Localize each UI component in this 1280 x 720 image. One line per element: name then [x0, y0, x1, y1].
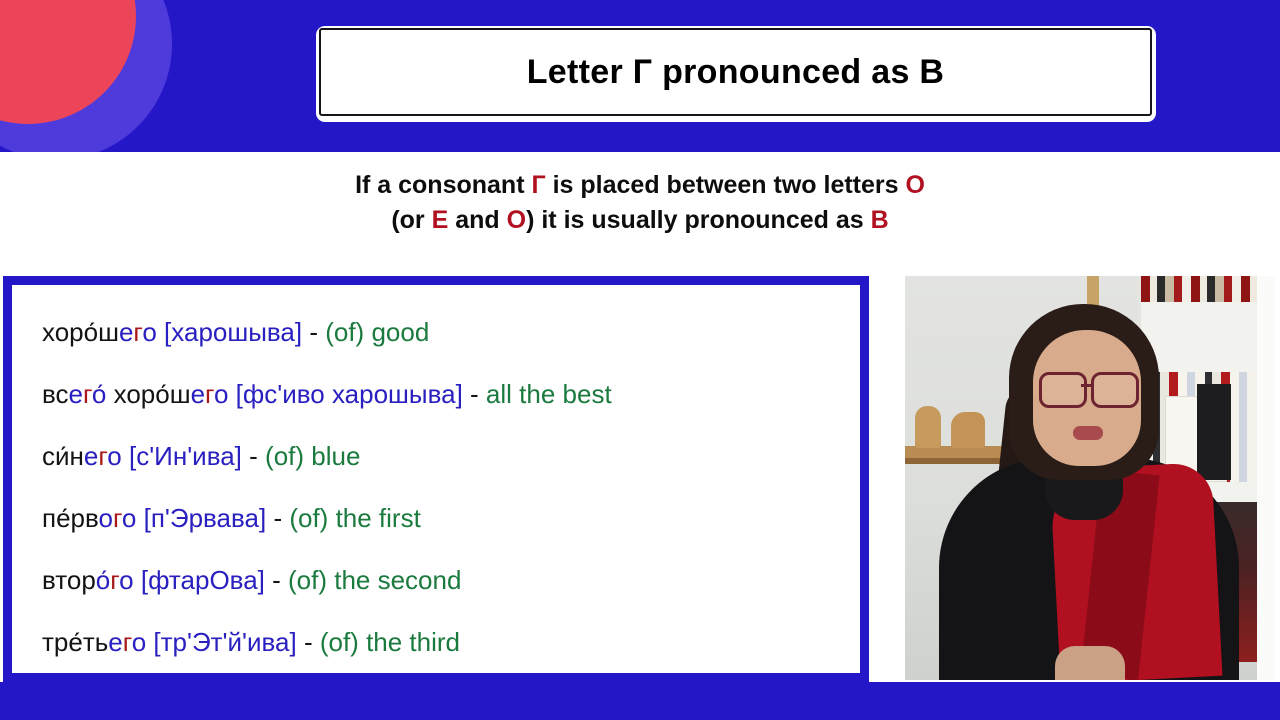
video-wooden-bear-figure-left	[915, 406, 941, 448]
rule-description: If a consonant Г is placed between two l…	[0, 168, 1280, 238]
word-letter-ge: г	[83, 379, 92, 409]
video-presenter-glasses-right-lens	[1091, 372, 1139, 408]
rule-description-line-2: (or Е and О) it is usually pronounced as…	[0, 203, 1280, 238]
video-wooden-shelf-edge	[905, 458, 1009, 464]
word-transcription: [с'Ин'ива]	[129, 441, 242, 471]
example-row: хоро́шего [харошыва] - (of) good	[42, 301, 860, 363]
title-plate: Letter Г pronounced as В	[316, 26, 1156, 122]
word-stem-2: хоро́ш	[106, 379, 190, 409]
word-letter-blue: о	[107, 441, 121, 471]
word-letter-blue-3: о	[214, 379, 228, 409]
word-letter-blue: о	[122, 503, 136, 533]
rule-text-segment: (or	[391, 206, 431, 234]
presenter-video[interactable]	[905, 276, 1275, 680]
word-translation: (of) the third	[320, 627, 460, 657]
word-letter-blue: е	[84, 441, 98, 471]
word-translation: (of) the second	[288, 565, 461, 595]
video-presenter-mouth	[1073, 426, 1103, 440]
word-letter-blue-2: е	[191, 379, 205, 409]
word-dash: -	[265, 565, 288, 595]
video-presenter-glasses-bridge	[1081, 384, 1091, 387]
word-stem: втор	[42, 565, 96, 595]
bottom-decorative-band	[0, 682, 1280, 720]
highlight-letter-o2: О	[507, 206, 526, 234]
examples-list: хоро́шего [харошыва] - (of) good всего́ …	[12, 285, 860, 673]
word-stem: пе́рв	[42, 503, 99, 533]
video-right-edge	[1257, 276, 1275, 680]
title-plate-inner-border: Letter Г pronounced as В	[319, 28, 1152, 116]
word-translation: (of) blue	[265, 441, 360, 471]
word-translation: (of) good	[325, 317, 429, 347]
word-transcription: [фтарОва]	[141, 565, 265, 595]
example-row: си́него [с'Ин'ива] - (of) blue	[42, 425, 860, 487]
word-letter-ge-2: г	[205, 379, 214, 409]
word-letter-blue: е	[108, 627, 122, 657]
video-wooden-bear-figure-right	[951, 412, 985, 448]
video-presenter-hands	[1055, 646, 1125, 680]
rule-text-segment: If a consonant	[355, 171, 531, 199]
highlight-letter-ve: В	[871, 206, 889, 234]
word-stem: си́н	[42, 441, 84, 471]
word-stem: вс	[42, 379, 69, 409]
word-transcription: [фс'иво харошыва]	[236, 379, 463, 409]
word-letter-ge: г	[123, 627, 132, 657]
word-stem: хоро́ш	[42, 317, 119, 347]
video-books-top-row	[1141, 276, 1275, 302]
rule-description-line-1: If a consonant Г is placed between two l…	[0, 168, 1280, 203]
highlight-letter-ge: Г	[531, 171, 545, 199]
word-dash: -	[302, 317, 325, 347]
word-dash: -	[242, 441, 265, 471]
word-dash: -	[297, 627, 320, 657]
video-presenter-glasses-left-lens	[1039, 372, 1087, 408]
word-letter-blue: о	[99, 503, 113, 533]
word-translation: all the best	[486, 379, 612, 409]
word-letter-blue: о	[142, 317, 156, 347]
rule-text-segment: is placed between two letters	[546, 171, 906, 199]
word-letter-blue: о́	[92, 379, 106, 409]
word-letter-ge: г	[133, 317, 142, 347]
video-book-dark	[1197, 384, 1231, 480]
word-transcription: [тр'Эт'й'ива]	[153, 627, 296, 657]
word-stem: тре́ть	[42, 627, 108, 657]
word-letter-blue: о	[119, 565, 133, 595]
word-letter-ge: г	[110, 565, 119, 595]
examples-panel: хоро́шего [харошыва] - (of) good всего́ …	[3, 276, 869, 682]
rule-text-segment: ) it is usually pronounced as	[526, 206, 871, 234]
word-letter-blue: о́	[96, 565, 110, 595]
word-letter-ge: г	[113, 503, 122, 533]
word-letter-ge: г	[98, 441, 107, 471]
example-row: пе́рвого [п'Эрвава] - (of) the first	[42, 487, 860, 549]
example-row: второ́го [фтарОва] - (of) the second	[42, 549, 860, 611]
word-translation: (of) the first	[289, 503, 420, 533]
word-dash: -	[266, 503, 289, 533]
word-transcription: [харошыва]	[164, 317, 302, 347]
example-row: всего́ хоро́шего [фс'иво харошыва] - all…	[42, 363, 860, 425]
word-letter-blue: е	[119, 317, 133, 347]
highlight-letter-ye: Е	[432, 206, 449, 234]
example-row: тре́тьего [тр'Эт'й'ива] - (of) the third	[42, 611, 860, 673]
word-dash: -	[463, 379, 486, 409]
page-title: Letter Г pronounced as В	[527, 53, 945, 92]
word-letter-blue: е	[69, 379, 83, 409]
highlight-letter-o: О	[905, 171, 924, 199]
rule-text-segment: and	[448, 206, 506, 234]
word-letter-blue: о	[132, 627, 146, 657]
word-transcription: [п'Эрвава]	[144, 503, 267, 533]
